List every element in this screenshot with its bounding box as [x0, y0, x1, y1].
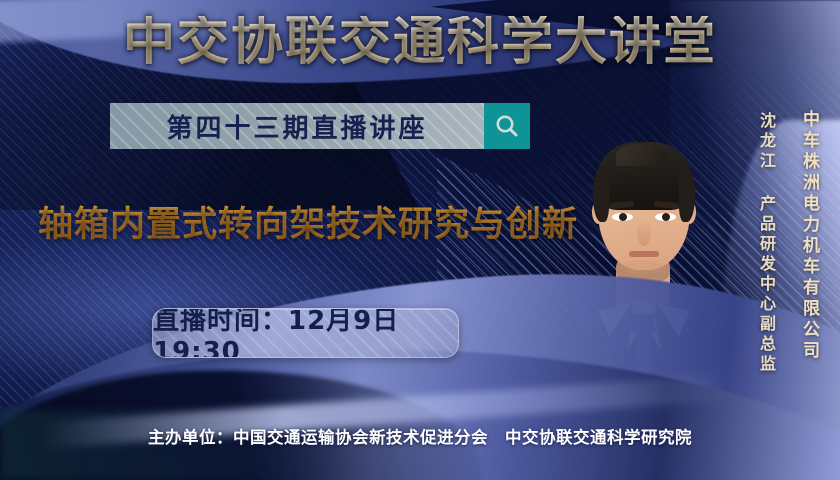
chin-shadow	[620, 260, 666, 274]
lecture-topic: 轴箱内置式转向架技术研究与创新	[38, 196, 578, 247]
page-title: 中交协联交通科学大讲堂	[0, 16, 840, 68]
hair-part	[616, 144, 668, 166]
speaker-name-role-vertical: 沈龙江 产品研发中心副总监	[754, 112, 778, 375]
subtitle-label: 第四十三期直播讲座	[166, 108, 427, 145]
eye-right	[655, 213, 676, 221]
subtitle-bar-background: 第四十三期直播讲座	[110, 103, 484, 149]
search-icon	[494, 113, 520, 139]
broadcast-time-badge: 直播时间：12月9日19:30	[152, 308, 459, 358]
hair-side-right	[679, 170, 695, 222]
speaker-company-vertical: 中车株洲电力机车有限公司	[797, 110, 822, 362]
search-icon-button[interactable]	[484, 103, 530, 149]
organizer-footer: 主办单位：中国交通运输协会新技术促进分会 中交协联交通科学研究院	[0, 424, 840, 448]
hair-side-left	[593, 170, 609, 222]
live-lecture-poster: 中交协联交通科学大讲堂 中交协联交通科学大讲堂 第四十三期直播讲座 轴箱内置式转…	[0, 0, 840, 480]
eye-left	[612, 213, 633, 221]
broadcast-time-label: 直播时间：12月9日19:30	[153, 308, 458, 358]
nose	[637, 220, 651, 246]
mouth	[629, 251, 659, 257]
subtitle-bar: 第四十三期直播讲座	[110, 103, 530, 149]
